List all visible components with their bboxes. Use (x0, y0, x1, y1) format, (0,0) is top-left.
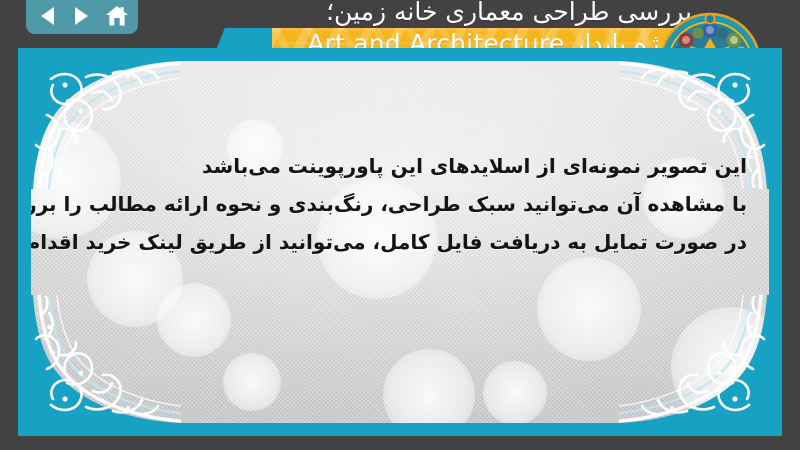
slide-frame: این تصویر نمونه‌ای از اسلایدهای این پاور… (18, 48, 782, 436)
slide-body-text: این تصویر نمونه‌ای از اسلایدهای این پاور… (47, 147, 747, 261)
body-line-3: در صورت تمایل به دریافت فایل کامل، می‌تو… (47, 223, 747, 261)
title-line-1: بررسی طراحی معماری خانه زمین؛ (222, 0, 692, 28)
body-line-1: این تصویر نمونه‌ای از اسلایدهای این پاور… (47, 147, 747, 185)
slide-preview-stage: بررسی طراحی معماری خانه زمین؛ پروژه پاید… (0, 0, 800, 450)
slide-canvas: این تصویر نمونه‌ای از اسلایدهای این پاور… (31, 61, 769, 423)
body-line-2: با مشاهده آن می‌توانید سبک طراحی، رنگ‌بن… (47, 185, 747, 223)
